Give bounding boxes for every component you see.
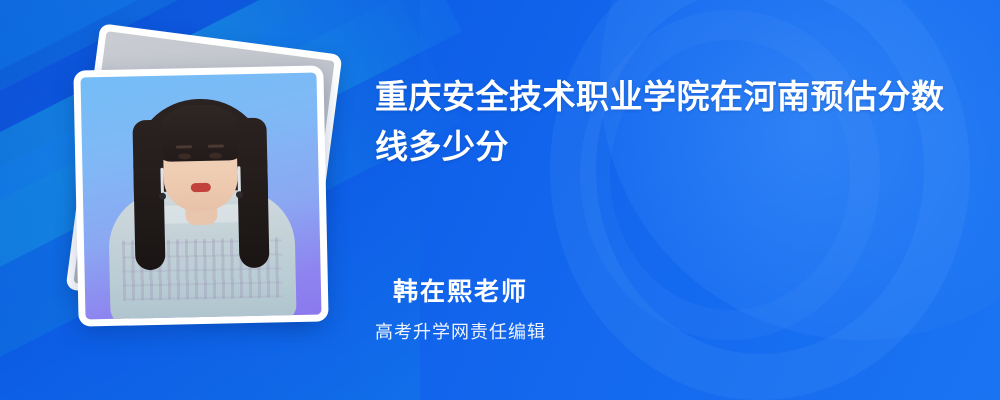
portrait-photo-frame xyxy=(73,65,328,326)
promo-banner: 重庆安全技术职业学院在河南预估分数线多少分 韩在熙老师 高考升学网责任编辑 xyxy=(0,0,1000,400)
photo-stack xyxy=(48,36,368,336)
eyebrow-left xyxy=(176,145,192,148)
text-column: 重庆安全技术职业学院在河南预估分数线多少分 韩在熙老师 高考升学网责任编辑 xyxy=(375,0,975,400)
earring-right xyxy=(237,166,241,192)
author-name: 韩在熙老师 xyxy=(393,272,528,308)
portrait-photo xyxy=(80,73,321,320)
page-title: 重庆安全技术职业学院在河南预估分数线多少分 xyxy=(375,72,955,171)
author-role: 高考升学网责任编辑 xyxy=(375,318,546,344)
earring-left xyxy=(160,168,164,194)
eyebrow-right xyxy=(208,145,224,148)
lips xyxy=(191,183,211,192)
portrait-illustration xyxy=(80,73,321,320)
